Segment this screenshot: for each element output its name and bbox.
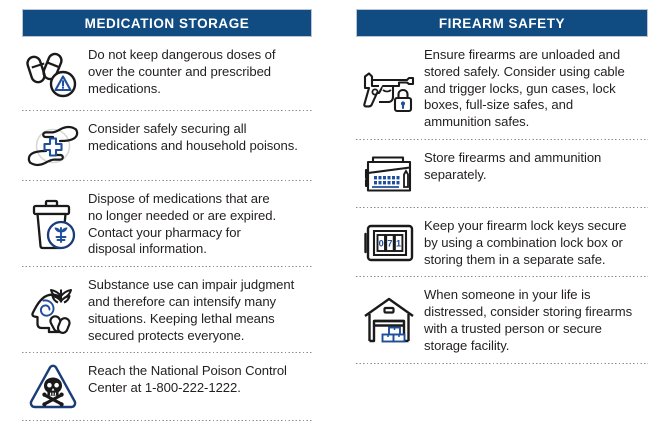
column-medication-storage: MEDICATION STORAGE: [0, 0, 334, 446]
trash-bin-disposal-icon: [22, 196, 84, 252]
list-item-text: When someone in your life is distressed,…: [422, 286, 632, 354]
head-spiral-substance-icon: [22, 282, 84, 338]
list-item: Consider safely securing all medications…: [22, 111, 312, 180]
combination-lock-box-icon: 0 7 1: [356, 218, 422, 268]
list-item: Reach the National Poison Control Center…: [22, 353, 312, 420]
list-item: Do not keep dangerous doses of over the …: [22, 37, 312, 110]
list-item-text: Consider safely securing all medications…: [84, 120, 298, 155]
list-item-text: Reach the National Poison Control Center…: [84, 362, 287, 397]
list-item-text: Do not keep dangerous doses of over the …: [84, 46, 275, 97]
divider: [356, 363, 648, 364]
list-item: Substance use can impair judgment and th…: [22, 267, 312, 352]
list-item: 0 7 1 Keep your firearm lock keys secure…: [356, 208, 648, 276]
lock-digit-1: 0: [379, 238, 384, 248]
list-item: Dispose of medications that are no longe…: [22, 181, 312, 266]
list-item: Ensure firearms are unloaded and stored …: [356, 37, 648, 139]
list-item-text: Keep your firearm lock keys secure by us…: [422, 217, 626, 268]
list-item: When someone in your life is distressed,…: [356, 277, 648, 362]
lock-digit-2: 7: [387, 238, 392, 248]
infographic-root: MEDICATION STORAGE: [0, 0, 668, 446]
item-list-medication-storage: Do not keep dangerous doses of over the …: [22, 37, 312, 421]
handgun-padlock-icon: [356, 60, 422, 116]
section-header-medication-storage: MEDICATION STORAGE: [22, 9, 312, 37]
section-header-firearm-safety: FIREARM SAFETY: [356, 9, 648, 37]
list-item-text: Substance use can impair judgment and th…: [84, 276, 294, 344]
storage-facility-icon: [356, 294, 422, 346]
gun-case-ammunition-icon: [356, 149, 422, 199]
list-item-text: Dispose of medications that are no longe…: [84, 190, 276, 258]
list-item: Store firearms and ammunition separately…: [356, 140, 648, 207]
pills-warning-icon: [22, 46, 84, 102]
poison-skull-triangle-icon: [22, 362, 84, 412]
item-list-firearm-safety: Ensure firearms are unloaded and stored …: [356, 37, 648, 364]
column-firearm-safety: FIREARM SAFETY: [334, 0, 668, 446]
list-item-text: Ensure firearms are unloaded and stored …: [422, 46, 625, 131]
hands-medical-cross-icon: [22, 120, 84, 172]
lock-digit-3: 1: [396, 238, 401, 248]
divider: [22, 420, 312, 421]
list-item-text: Store firearms and ammunition separately…: [422, 149, 601, 184]
